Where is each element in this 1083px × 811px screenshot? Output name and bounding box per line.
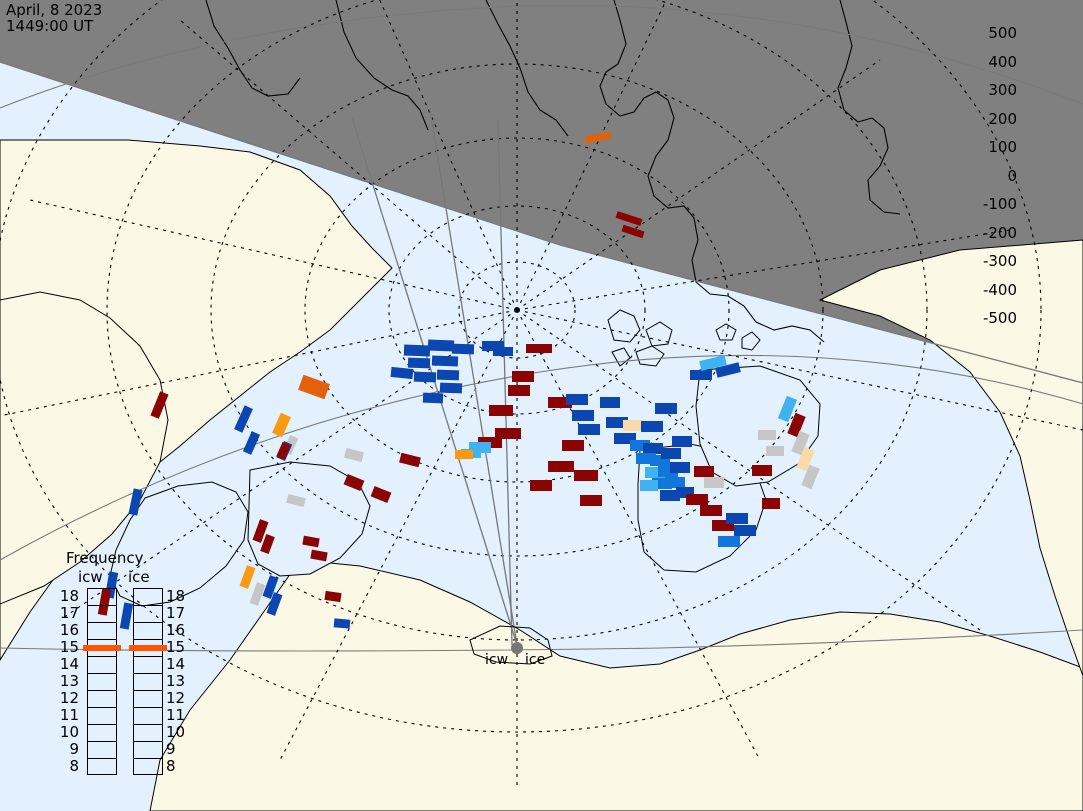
velocity-cell: [150, 391, 168, 418]
velocity-cell: [752, 465, 772, 476]
frequency-row: [88, 657, 116, 674]
frequency-row: [134, 623, 162, 640]
frequency-row: [88, 725, 116, 742]
time-text: 1449:00 UT: [6, 17, 93, 35]
velocity-cell: [508, 385, 530, 396]
frequency-scale-value: 17: [166, 604, 188, 622]
frequency-scale-value: 13: [166, 672, 188, 690]
velocity-cell: [580, 495, 602, 506]
velocity-cell: [623, 420, 643, 431]
frequency-row: [88, 589, 116, 606]
frequency-scale-value: 14: [57, 655, 79, 673]
velocity-cell: [700, 505, 722, 516]
radar-site-label-icw: icw: [485, 652, 508, 668]
colorbar-tick-8: -300: [983, 252, 1017, 270]
frequency-legend-ice-label: ice: [128, 568, 150, 586]
frequency-scale-value: 17: [57, 604, 79, 622]
velocity-cell: [690, 370, 712, 380]
velocity-cell: [250, 582, 266, 606]
velocity-cell: [423, 393, 443, 404]
velocity-cell: [762, 498, 780, 509]
frequency-bar-ice[interactable]: [133, 588, 163, 775]
velocity-cell: [310, 550, 327, 562]
colorbar-tick-3: 200: [988, 110, 1017, 128]
frequency-legend-icw-label: icw: [78, 568, 103, 586]
velocity-cell: [120, 602, 133, 629]
velocity-cell: [686, 494, 708, 505]
frequency-scale-value: 14: [166, 655, 188, 673]
frequency-row: [88, 759, 116, 776]
frequency-scale-value: 13: [57, 672, 79, 690]
frequency-row: [88, 708, 116, 725]
frequency-row: [134, 674, 162, 691]
frequency-scale-value: 9: [57, 740, 79, 758]
velocity-cell: [574, 470, 598, 481]
frequency-row: [88, 742, 116, 759]
velocity-cell: [643, 443, 663, 454]
velocity-cell: [324, 591, 341, 602]
frequency-row: [134, 759, 162, 776]
velocity-cell: [272, 413, 291, 438]
frequency-scale-value: 10: [166, 723, 188, 741]
velocity-cell: [655, 403, 677, 414]
velocity-cell: [562, 440, 584, 451]
velocity-cell: [578, 424, 600, 435]
frequency-marker-icw: [83, 645, 121, 651]
velocity-cell: [670, 462, 690, 473]
frequency-scale-value: 8: [166, 757, 188, 775]
velocity-cell: [526, 344, 552, 353]
colorbar-tick-2: 300: [988, 81, 1017, 99]
velocity-cell: [530, 480, 552, 491]
velocity-cell: [726, 513, 748, 524]
velocity-cell: [621, 225, 644, 238]
colorbar-tick-10: -500: [983, 309, 1017, 327]
velocity-cell: [243, 431, 260, 455]
velocity-cell: [734, 525, 756, 536]
frequency-scale-value: 15: [166, 638, 188, 656]
velocity-cell: [404, 345, 430, 357]
frequency-row: [134, 657, 162, 674]
velocity-cell: [432, 356, 458, 367]
velocity-cell: [414, 372, 436, 383]
frequency-scale-value: 16: [57, 621, 79, 639]
frequency-row: [88, 674, 116, 691]
frequency-scale-value: 11: [166, 706, 188, 724]
velocity-cell: [334, 618, 351, 628]
velocity-cell: [428, 340, 454, 352]
velocity-cell: [302, 536, 319, 548]
velocity-cell: [493, 347, 513, 356]
frequency-row: [134, 589, 162, 606]
colorbar-tick-0: 500: [988, 24, 1017, 42]
velocity-cell: [344, 448, 364, 462]
frequency-scale-value: 10: [57, 723, 79, 741]
velocity-cell: [408, 358, 430, 369]
colorbar-tick-1: 400: [988, 53, 1017, 71]
frequency-bar-icw[interactable]: [87, 588, 117, 775]
velocity-cell: [661, 448, 681, 459]
velocity-cell: [437, 370, 459, 381]
velocity-cell: [758, 430, 776, 440]
velocity-cell: [286, 494, 306, 507]
frequency-row: [134, 606, 162, 623]
velocity-cell: [704, 477, 724, 488]
frequency-legend-title: Frequency: [66, 549, 144, 567]
velocity-cell: [240, 565, 256, 589]
velocity-cell: [489, 405, 513, 416]
velocity-cell: [572, 410, 594, 421]
velocity-cell: [616, 211, 643, 226]
velocity-cell: [391, 367, 414, 379]
velocity-colorbar: Velocity (m/s) 5004003002001000-100-200-…: [940, 0, 1083, 811]
velocity-cell: [512, 371, 534, 382]
velocity-cell: [641, 421, 663, 432]
velocity-cell: [399, 453, 421, 468]
velocity-cell: [694, 466, 714, 477]
frequency-row: [88, 623, 116, 640]
velocity-cell: [234, 405, 253, 432]
frequency-marker-ice: [129, 645, 167, 651]
frequency-row: [134, 725, 162, 742]
velocity-cell: [344, 474, 365, 491]
fan-plot-canvas: April, 8 20231449:00 UT Velocity (m/s) 5…: [0, 0, 1083, 811]
frequency-scale-value: 9: [166, 740, 188, 758]
velocity-cell: [440, 383, 462, 394]
frequency-scale-value: 18: [166, 587, 188, 605]
velocity-cell: [672, 436, 692, 447]
velocity-cell: [566, 394, 588, 405]
velocity-cell: [640, 480, 658, 491]
velocity-cell: [665, 477, 685, 488]
velocity-cell: [455, 450, 473, 459]
frequency-row: [134, 742, 162, 759]
frequency-scale-value: 11: [57, 706, 79, 724]
velocity-cell: [452, 344, 474, 355]
frequency-row: [88, 606, 116, 623]
velocity-cell: [128, 488, 142, 515]
velocity-cell: [600, 397, 620, 408]
velocity-cell: [766, 446, 784, 456]
velocity-cell: [585, 131, 612, 143]
colorbar-tick-9: -400: [983, 281, 1017, 299]
velocity-cell: [298, 375, 330, 400]
velocity-cell: [718, 536, 740, 547]
colorbar-tick-5: 0: [1007, 167, 1017, 185]
radar-site-label-ice: ice: [525, 652, 545, 668]
frequency-row: [134, 708, 162, 725]
colorbar-tick-4: 100: [988, 138, 1017, 156]
frequency-row: [88, 691, 116, 708]
velocity-cell: [371, 486, 392, 503]
frequency-scale-value: 12: [57, 689, 79, 707]
colorbar-tick-7: -200: [983, 224, 1017, 242]
colorbar-tick-6: -100: [983, 195, 1017, 213]
frequency-row: [134, 691, 162, 708]
frequency-scale-value: 15: [57, 638, 79, 656]
frequency-scale-value: 12: [166, 689, 188, 707]
frequency-scale-value: 16: [166, 621, 188, 639]
frequency-scale-value: 8: [57, 757, 79, 775]
timestamp-label: April, 8 20231449:00 UT: [6, 2, 102, 34]
velocity-cell: [548, 461, 574, 472]
frequency-scale-value: 18: [57, 587, 79, 605]
